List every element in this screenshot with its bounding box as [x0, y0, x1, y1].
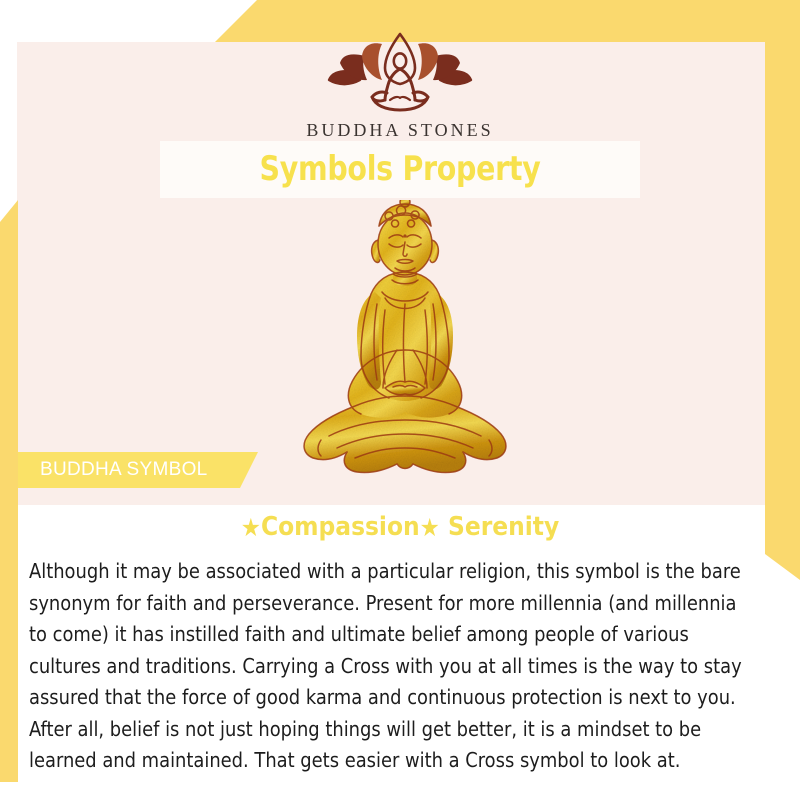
description-paragraph: Although it may be associated with a par… — [29, 556, 751, 777]
brand-logo: BUDDHA STONES — [0, 28, 800, 141]
lotus-meditation-icon — [325, 28, 475, 116]
buddha-symbol-tag-label: BUDDHA SYMBOL — [40, 452, 208, 488]
seated-golden-buddha-illustration — [285, 200, 525, 490]
page-title: Symbols Property — [177, 141, 623, 198]
star-icon: ★ — [241, 513, 261, 542]
attribute-serenity: Serenity — [448, 512, 559, 542]
brand-name: BUDDHA STONES — [0, 120, 800, 141]
attribute-compassion: Compassion — [261, 512, 420, 542]
star-icon: ★ — [420, 513, 440, 542]
decorative-band-left — [0, 200, 18, 782]
attributes-subtitle: ★Compassion★ Serenity — [0, 512, 800, 542]
promo-banner-page: BUDDHA STONES Symbols Property — [0, 0, 800, 800]
